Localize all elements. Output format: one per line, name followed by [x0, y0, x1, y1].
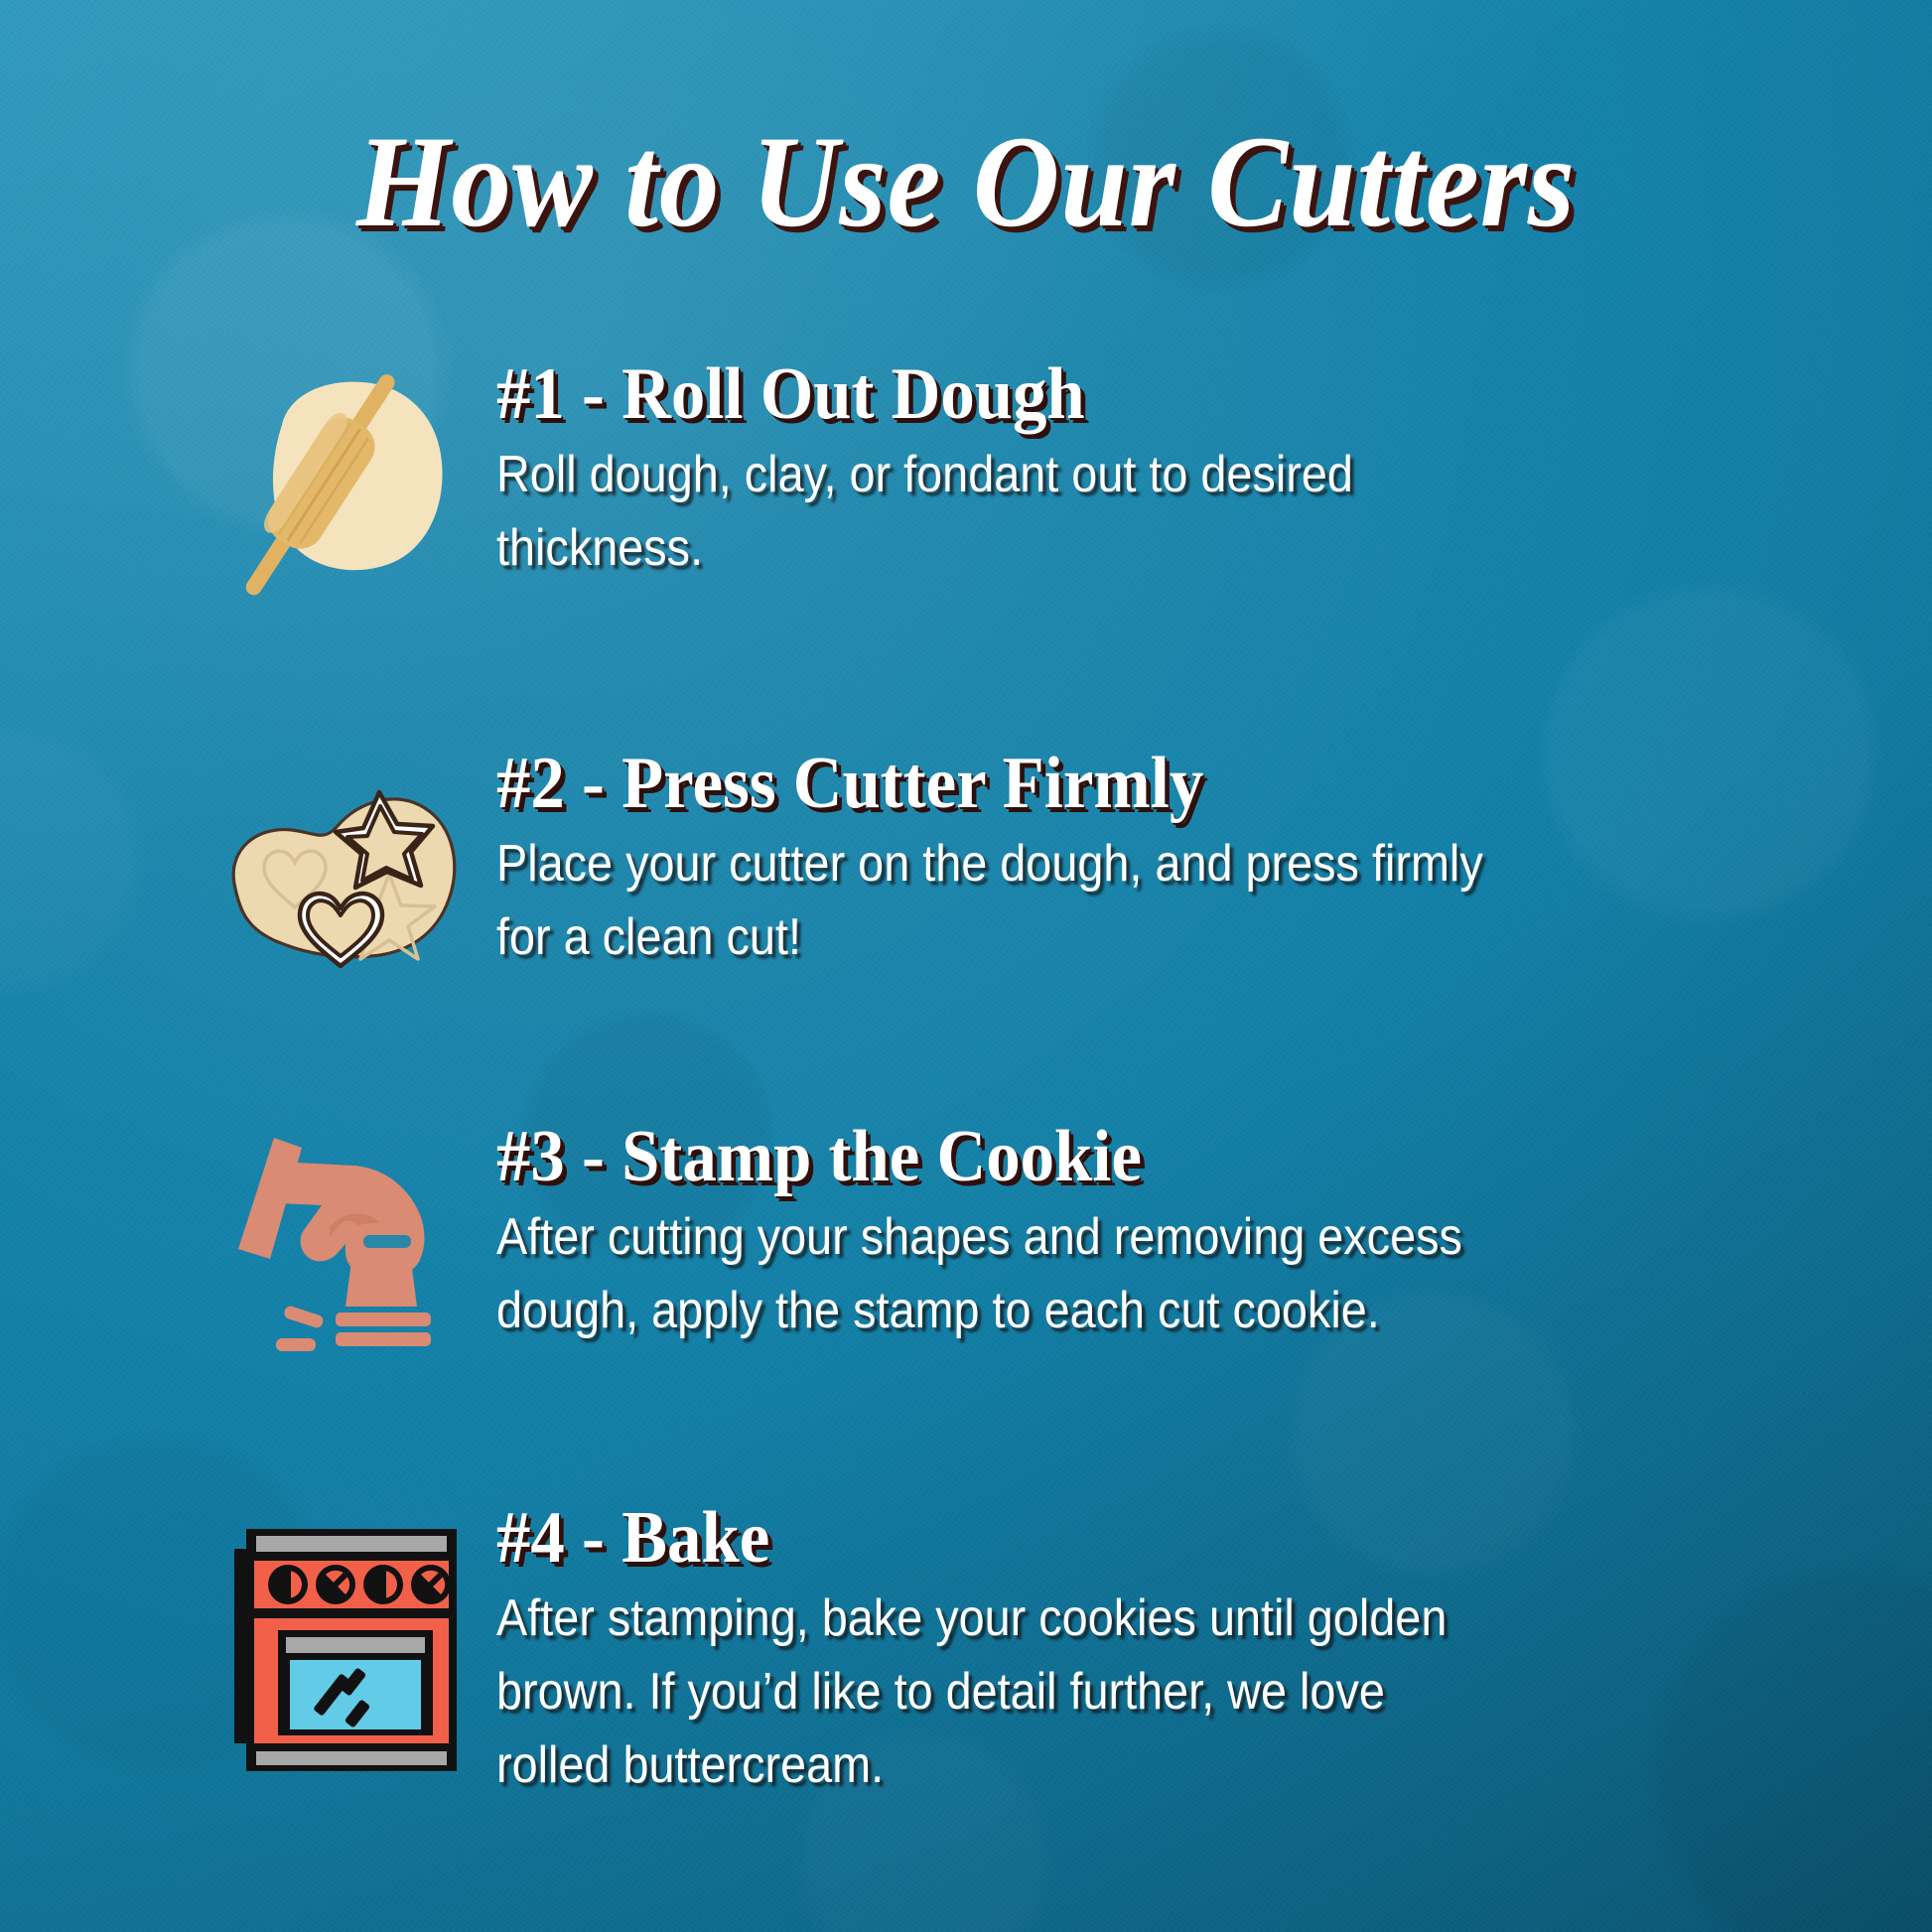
step-2-body: Place your cutter on the dough, and pres…	[496, 828, 1506, 975]
step-2-heading: #2 - Press Cutter Firmly	[496, 747, 1540, 820]
oven-icon	[230, 1521, 469, 1786]
step-1-text: #1 - Roll Out Dough Roll dough, clay, or…	[496, 357, 1618, 586]
infographic-poster: How to Use Our Cutters	[0, 0, 1932, 1932]
page-title: How to Use Our Cutters	[77, 111, 1855, 253]
rolling-pin-dough-icon	[212, 365, 461, 609]
poster-content: How to Use Our Cutters	[0, 0, 1932, 1932]
step-1-body: Roll dough, clay, or fondant out to desi…	[496, 439, 1506, 586]
step-4-body: After stamping, bake your cookies until …	[496, 1583, 1506, 1802]
step-3-text: #3 - Stamp the Cookie After cutting your…	[496, 1120, 1618, 1348]
dough-with-cutters-icon	[212, 764, 461, 998]
step-3-heading: #3 - Stamp the Cookie	[496, 1120, 1540, 1193]
step-4-heading: #4 - Bake	[496, 1501, 1540, 1575]
step-1-heading: #1 - Roll Out Dough	[496, 357, 1540, 431]
step-3-body: After cutting your shapes and removing e…	[496, 1201, 1506, 1348]
step-4-text: #4 - Bake After stamping, bake your cook…	[496, 1501, 1618, 1802]
step-2-text: #2 - Press Cutter Firmly Place your cutt…	[496, 747, 1618, 975]
hand-stamp-icon	[226, 1132, 455, 1365]
